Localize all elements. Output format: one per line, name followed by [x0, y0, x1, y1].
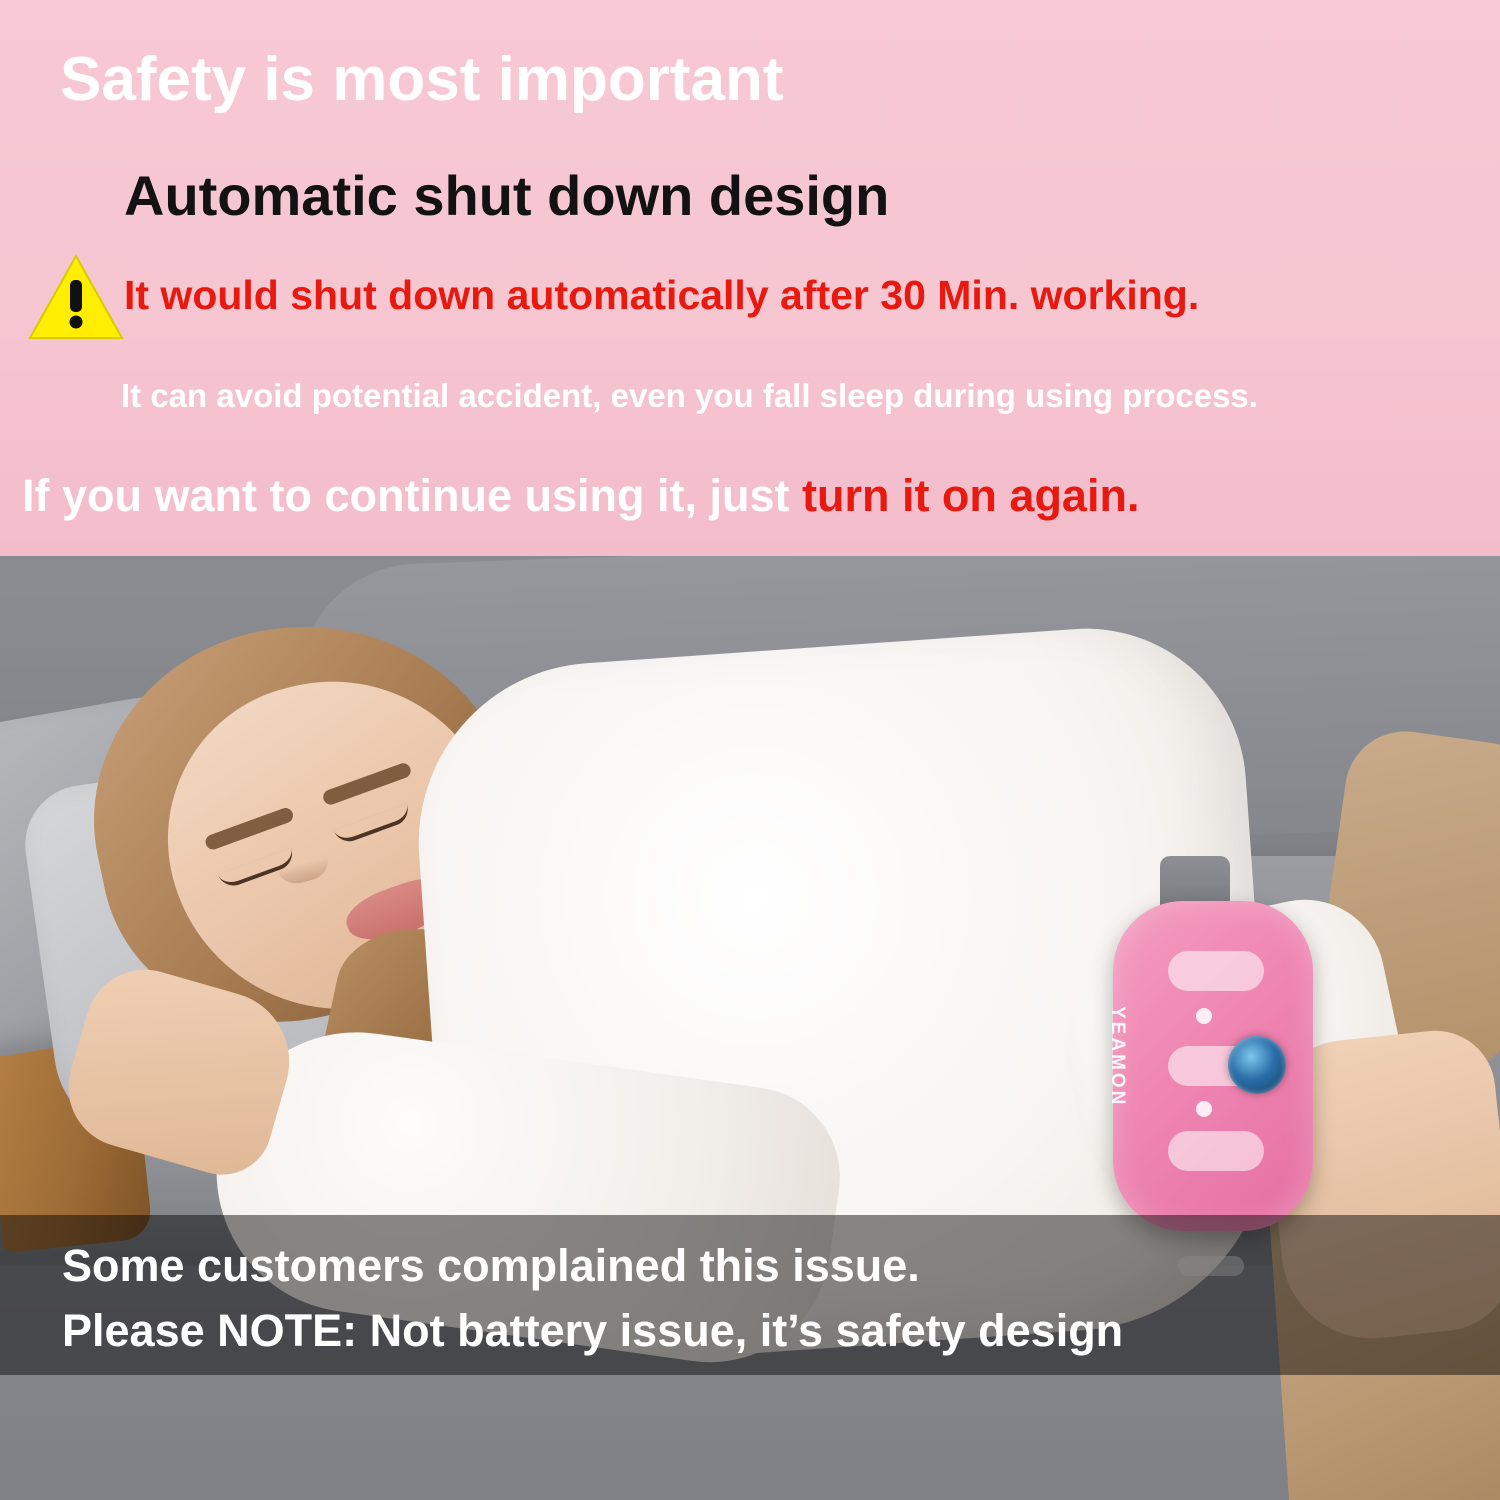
device-brand-label: YEAMON	[1106, 1006, 1128, 1107]
device-slot-bottom	[1168, 1131, 1264, 1171]
device-slot-top	[1168, 951, 1264, 991]
device-indicator-dot-1	[1196, 1008, 1212, 1024]
continue-using-text: If you want to continue using it, just t…	[22, 470, 1139, 522]
caption-line-2: Please NOTE: Not battery issue, it’s saf…	[62, 1305, 1123, 1357]
top-text-panel: Safety is most important Automatic shut …	[0, 0, 1500, 556]
avoid-accident-text: It can avoid potential accident, even yo…	[121, 377, 1258, 415]
warning-triangle-icon	[28, 252, 124, 342]
caption-line-1: Some customers complained this issue.	[62, 1240, 920, 1292]
feature-subtitle: Automatic shut down design	[124, 163, 889, 228]
eyebrow-right	[321, 761, 413, 807]
power-button-icon[interactable]	[1228, 1036, 1286, 1094]
page-title: Safety is most important	[60, 44, 783, 115]
auto-shutdown-warning-text: It would shut down automatically after 3…	[124, 272, 1199, 319]
continue-text-plain: If you want to continue using it, just	[22, 470, 802, 521]
device-indicator-dot-2	[1196, 1101, 1212, 1117]
continue-text-emphasis: turn it on again.	[802, 470, 1139, 521]
eye-right-closed	[333, 803, 412, 846]
product-infographic: Safety is most important Automatic shut …	[0, 0, 1500, 1500]
